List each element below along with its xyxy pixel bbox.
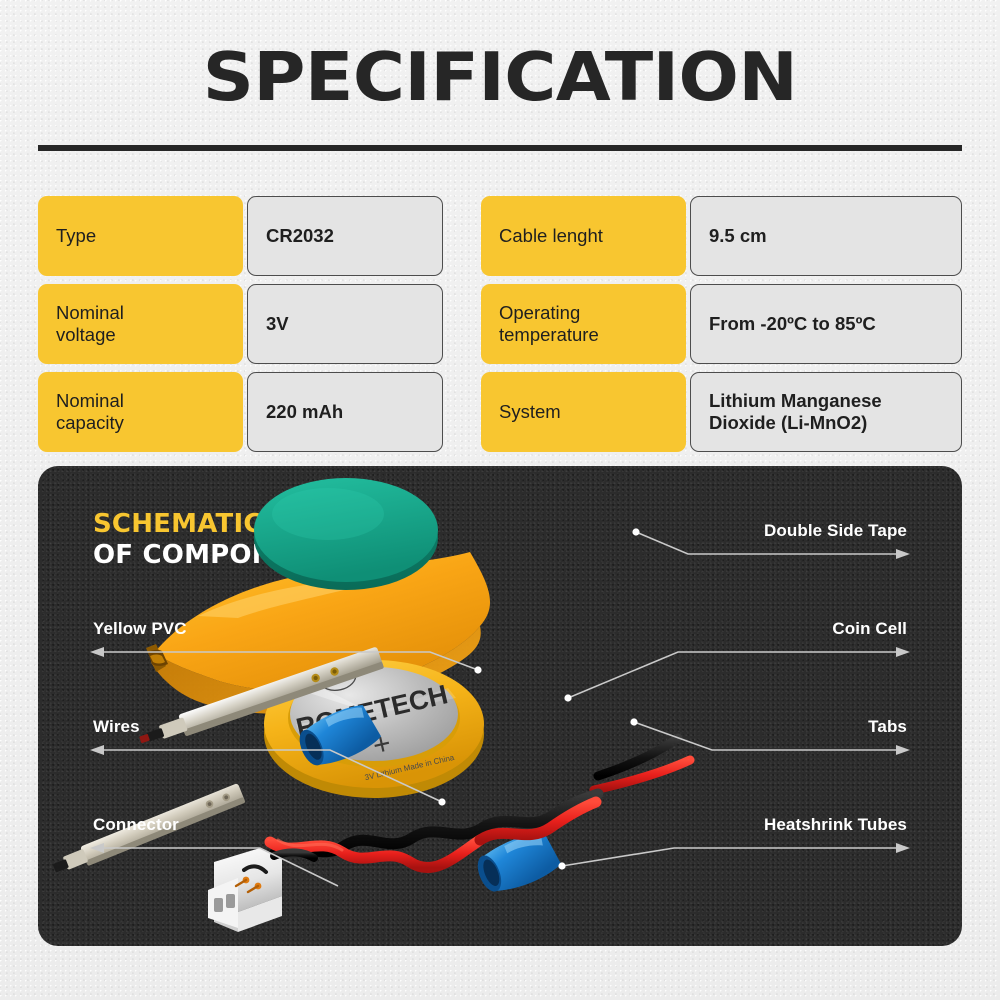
arrowhead-tabs (896, 745, 910, 755)
table-column-gap (443, 372, 481, 452)
spec-key-operating-temperature: Operatingtemperature (481, 284, 686, 364)
callout-double-side-tape: Double Side Tape (764, 521, 907, 541)
title-block: SPECIFICATION (0, 44, 1000, 111)
callout-wires: Wires (93, 717, 140, 737)
leader-connector (100, 848, 338, 886)
spec-key-system: System (481, 372, 686, 452)
table-column-gap (443, 284, 481, 364)
spec-key-nominal-capacity: Nominalcapacity (38, 372, 243, 452)
leader-coin-cell (568, 652, 900, 698)
leader-endpoint-dots (438, 528, 639, 869)
arrowhead-connector (90, 843, 104, 853)
arrowhead-wires (90, 745, 104, 755)
arrowhead-heatshrink-tubes (896, 843, 910, 853)
spec-key-type: Type (38, 196, 243, 276)
leader-heatshrink-tubes (562, 848, 900, 866)
callout-heatshrink-tubes: Heatshrink Tubes (764, 815, 907, 835)
spec-key-nominal-voltage: Nominalvoltage (38, 284, 243, 364)
page-title: SPECIFICATION (0, 44, 1000, 111)
schematic-panel: SCHEMATIC LAYOUT OF COMPONENTS (38, 466, 962, 946)
arrowhead-double-side-tape (896, 549, 910, 559)
leader-tabs (634, 722, 900, 750)
callout-label-coin-cell: Coin Cell (832, 619, 907, 639)
specification-table: Type CR2032 Cable lenght 9.5 cm Nominalv… (38, 196, 962, 452)
callout-label-double-side-tape: Double Side Tape (764, 521, 907, 541)
title-divider (38, 145, 962, 151)
spec-value-nominal-capacity: 220 mAh (247, 372, 443, 452)
callout-label-tabs: Tabs (868, 717, 907, 737)
spec-value-cable-length: 9.5 cm (690, 196, 962, 276)
callout-label-wires: Wires (93, 717, 140, 737)
arrowhead-coin-cell (896, 647, 910, 657)
leader-yellow-pvc (100, 652, 478, 670)
spec-value-nominal-voltage: 3V (247, 284, 443, 364)
callout-tabs: Tabs (868, 717, 907, 737)
callout-yellow-pvc: Yellow PVC (93, 619, 187, 639)
callout-coin-cell: Coin Cell (832, 619, 907, 639)
spec-key-cable-length: Cable lenght (481, 196, 686, 276)
callout-label-yellow-pvc: Yellow PVC (93, 619, 187, 639)
spec-value-operating-temperature: From -20ºC to 85ºC (690, 284, 962, 364)
callout-label-connector: Connector (93, 815, 179, 835)
arrowhead-yellow-pvc (90, 647, 104, 657)
callout-connector: Connector (93, 815, 179, 835)
callout-label-heatshrink-tubes: Heatshrink Tubes (764, 815, 907, 835)
spec-value-type: CR2032 (247, 196, 443, 276)
spec-value-system: Lithium ManganeseDioxide (Li-MnO2) (690, 372, 962, 452)
leader-wires (100, 750, 442, 802)
table-column-gap (443, 196, 481, 276)
